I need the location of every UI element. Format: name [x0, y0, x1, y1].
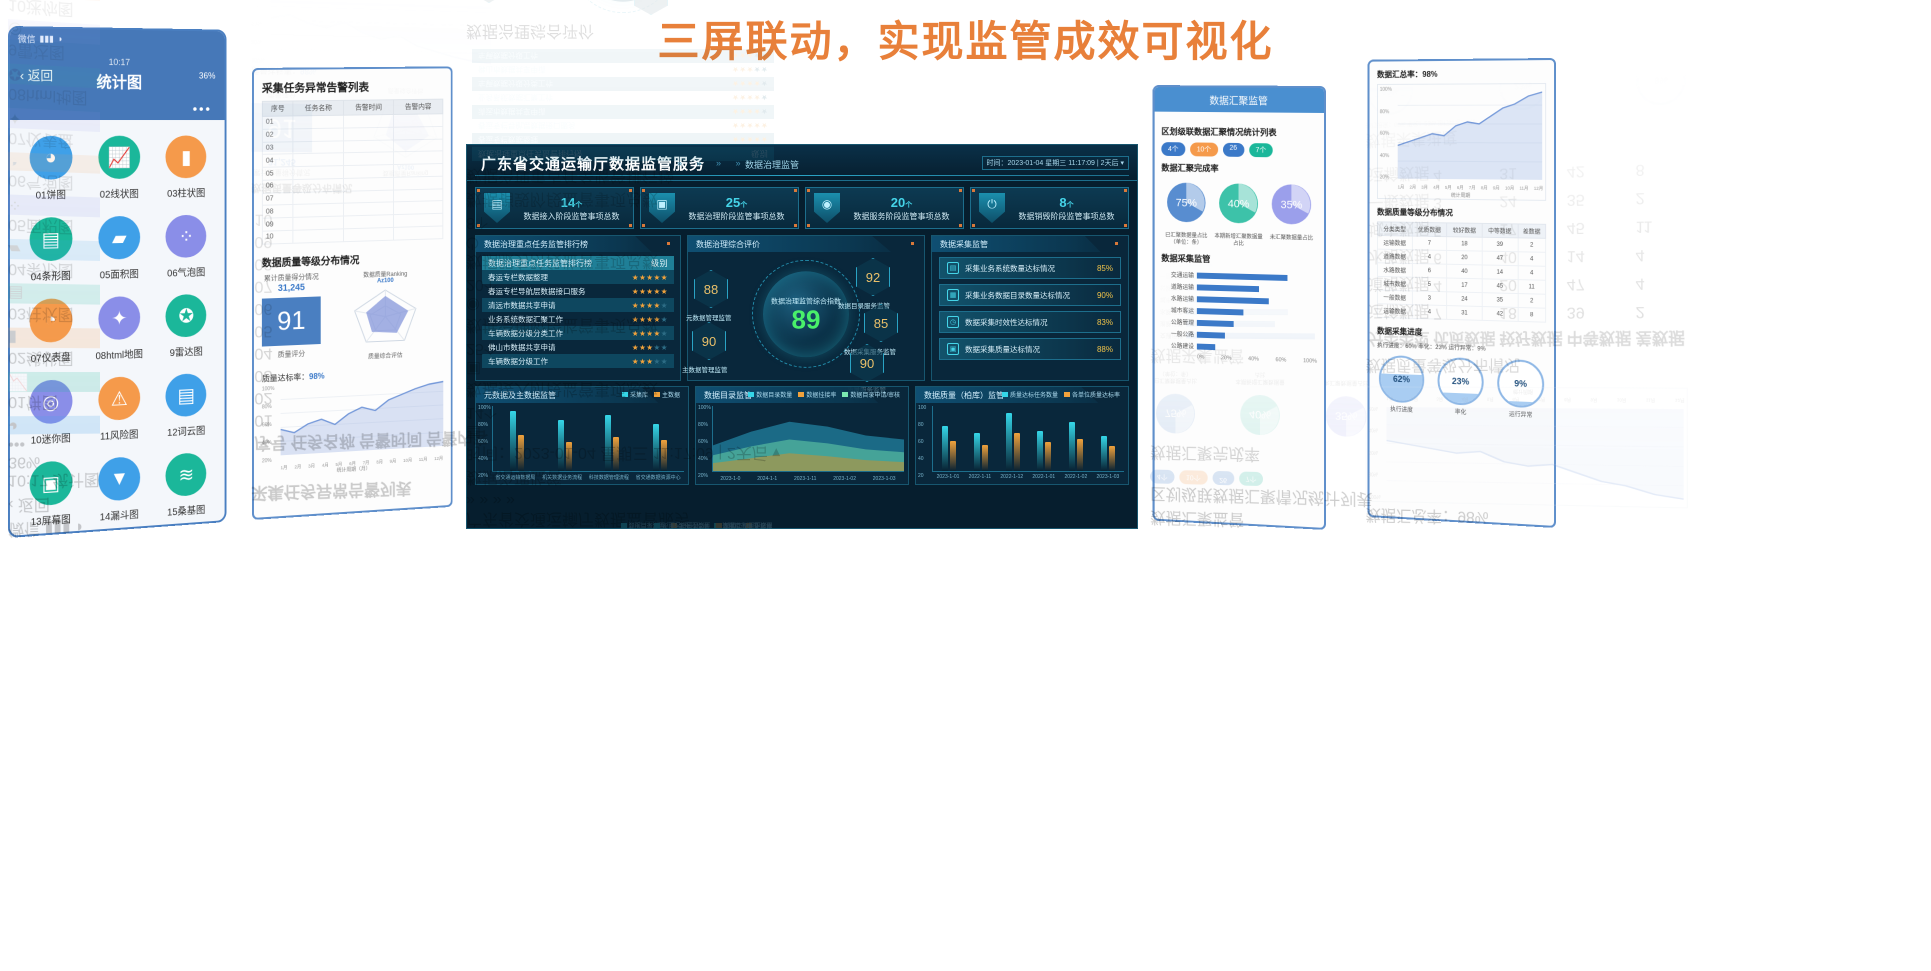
- bar: [1006, 413, 1012, 472]
- eval-node[interactable]: 90: [692, 322, 726, 360]
- table-cell: [293, 115, 344, 128]
- bar: [1045, 442, 1051, 471]
- progress-caption: 执行进度：60% 率化：23% 运行异常：9%: [1377, 340, 1546, 354]
- quality-section-title: 数据质量等级分布情况: [262, 249, 443, 270]
- table-cell: 一般数据: [1377, 290, 1412, 305]
- table-cell: 35: [1482, 293, 1518, 308]
- alert-table: 序号任务名称告警时间告警内容 01020304050607080910: [262, 99, 443, 245]
- aggregation-section3-title: 数据采集监管: [1161, 252, 1317, 268]
- chart-type-item[interactable]: ✦08html地图: [85, 295, 153, 362]
- axis-tick: 6月: [1457, 185, 1464, 191]
- more-button[interactable]: •••: [10, 100, 225, 120]
- quality-radar-chart: 数据质量Ranking Az100 质量综合评估: [327, 267, 444, 362]
- rank-row[interactable]: 车辆数据分级分类工作★★★★★: [482, 326, 674, 340]
- progress-title: 数据采集进度: [1377, 326, 1546, 342]
- axis-tick: 100%: [698, 405, 712, 411]
- bottom-chart-card: 数据质量（柏库）监管质量达标任务数量各单位质量达标率10080604020202…: [915, 386, 1129, 485]
- axis-tick: 5月: [1445, 185, 1452, 191]
- quality-rate-label: 质量达标率：: [262, 372, 309, 383]
- rank-stars: ★★★★★: [622, 315, 668, 324]
- rank-stars: ★★★★★: [622, 343, 668, 352]
- destroy-icon: ⏻: [979, 193, 1005, 223]
- row-index: 02: [262, 129, 293, 142]
- mini-trend-svg: [1398, 86, 1542, 180]
- axis-tick: 60%: [1380, 131, 1397, 137]
- eval-node[interactable]: 88: [694, 270, 728, 308]
- y-axis: 100%80%60%40%20%: [698, 405, 712, 479]
- gauge-icon: ◔: [29, 298, 72, 343]
- rank-stars: ★★★★★: [722, 94, 768, 103]
- stage: 三屏联动，实现监管成效可视化 微信 ▮▮▮ ◗ ‹ 返回 10:17 统计图 3…: [0, 0, 1931, 971]
- aggregation-panel-header: 数据汇聚监管: [1155, 87, 1324, 113]
- kpi-card[interactable]: ⏻8个数据销毁阶段监管事项总数: [970, 187, 1129, 229]
- globe-value: 89: [792, 306, 821, 332]
- rank-row[interactable]: 车辆数据分级工作★★★★★: [482, 354, 674, 368]
- gauge-caption: 执行进度: [1377, 404, 1426, 415]
- quality-icon: ▣: [947, 343, 959, 355]
- table-col-header: 较好数据: [1447, 223, 1482, 237]
- axis-tick: 10月: [1617, 396, 1627, 402]
- axis-tick: 20%: [698, 473, 712, 479]
- chart-legend: 质量达标任务数量各单位质量达标率: [1002, 390, 1120, 399]
- clock-icon: ◷: [947, 316, 959, 328]
- bar-group: [558, 406, 572, 471]
- dashboard-subtitle: 数据治理监管: [745, 158, 799, 171]
- bar-group: [1069, 406, 1083, 471]
- mini-x-label: 统计周期: [1378, 191, 1545, 200]
- axis-tick: 2023-1-03: [873, 476, 896, 482]
- table-cell: 4: [1634, 269, 1685, 296]
- rank-row[interactable]: 业务系统数据汇聚工作★★★★★: [472, 91, 774, 105]
- axis-tick: 20%: [478, 473, 492, 479]
- chart-legend: 数据目录数量数据挂接率数据目录申请/审核: [748, 390, 900, 399]
- eval-node[interactable]: 88: [472, 0, 506, 3]
- water-gauge: 23%率化: [1436, 357, 1486, 417]
- quality-table-title: 数据质量等级分布情况: [1377, 207, 1546, 220]
- chart-legend: 采集库主数据: [622, 390, 680, 399]
- table-cell: [344, 227, 394, 241]
- donut-caption: 未汇聚数据量占比: [1266, 235, 1317, 243]
- chart-body: 100%80%60%40%20%省交通运输数据局机关数据业务流程科技数据管理流程…: [476, 403, 688, 493]
- metric-value: 85%: [1097, 264, 1113, 273]
- system-icon: ▤: [947, 262, 959, 274]
- eval-card: 数据治理综合评价 数据治理监管综合指数 89 88元数据管理监管92数据目录服务…: [687, 235, 925, 381]
- table-cell: [344, 152, 394, 166]
- rank-task-name: 车辆数据分级工作: [488, 356, 622, 367]
- axis-tick: 2023-1-11: [794, 476, 816, 482]
- collect-metric-item[interactable]: ◷数据采集时效性达标情况83%: [939, 311, 1121, 333]
- table-col-header: 告警时间: [344, 100, 394, 115]
- rank-row[interactable]: 业务系统数据汇聚工作★★★★★: [482, 312, 674, 326]
- kpi-caption: 数据接入阶段监管事项总数: [516, 211, 627, 222]
- table-cell: 7: [1412, 236, 1447, 250]
- table-cell: 6: [1412, 263, 1447, 278]
- kpi-card[interactable]: ▤14个数据接入阶段监管事项总数: [475, 187, 634, 229]
- axis-tick: 60%: [262, 421, 280, 428]
- timestamp-badge[interactable]: 时间：2023-01-04 星期三 11:17:09 | 2天后 ▾: [982, 156, 1129, 170]
- chart-body: 100%80%60%40%20%2023-1-02024-1-12023-1-1…: [696, 403, 908, 493]
- bar-chart-plot: [932, 406, 1124, 472]
- radar-svg: [345, 283, 425, 351]
- axis-tick: 40%: [698, 456, 712, 462]
- row-index: 10: [262, 230, 293, 244]
- axis-tick: 11月: [1520, 186, 1529, 192]
- bar: [1014, 433, 1020, 471]
- kpi-value: 25个: [681, 195, 792, 210]
- table-cell: 11: [1518, 280, 1546, 295]
- rank-task-name: 春运专栏导航层数据接口服务: [488, 286, 622, 297]
- table-cell: 8: [1634, 154, 1685, 182]
- axis-tick: 科技数据管理流程: [589, 474, 629, 481]
- table-cell: [293, 178, 344, 192]
- rank-row[interactable]: 清远市数据共享申请★★★★★: [472, 105, 774, 119]
- chart-type-label: 08html地图: [85, 345, 153, 363]
- chart-type-label: 01饼图: [16, 186, 85, 202]
- row-index: 09: [262, 218, 293, 232]
- collect-metric-item[interactable]: ▤采集业务系统数量达标情况85%: [939, 257, 1121, 279]
- metric-value: 90%: [1097, 291, 1113, 300]
- h-bar: [1197, 320, 1234, 327]
- table-cell: 4: [1634, 240, 1685, 267]
- aggregation-pill-row: 4个10个267个: [1161, 142, 1317, 158]
- collect-metric-list: ▤采集业务系统数量达标情况85%▦采集业务数据目录数量达标情况90%◷数据采集时…: [932, 252, 1128, 365]
- water-gauge: 9%运行异常: [1495, 359, 1546, 420]
- bar: [1101, 436, 1107, 471]
- chart-type-label: 11风险图: [85, 425, 153, 444]
- legend-item: 主数据: [654, 390, 680, 399]
- donut-chart: 40%本期新增汇聚数据量占比: [1213, 180, 1264, 248]
- collect-metric-item[interactable]: ▦采集业务数据目录数量达标情况90%: [939, 284, 1121, 306]
- kpi-row: ▤14个数据接入阶段监管事项总数▣25个数据治理阶段监管事项总数◉20个数据服务…: [467, 181, 1137, 233]
- bar: [510, 411, 516, 471]
- bar-group: [653, 406, 667, 471]
- donut-chart: 35%未汇聚数据量占比: [1266, 181, 1317, 249]
- metric-label: 采集业务数据目录数量达标情况: [965, 290, 1091, 301]
- axis-tick: 80%: [1380, 109, 1397, 115]
- table-cell: [293, 229, 344, 243]
- chart-type-item[interactable]: ▮03柱状图: [153, 135, 219, 199]
- h-bar-label: 公路管理: [1161, 317, 1194, 327]
- globe-index: 数据治理监管综合指数 89: [580, 0, 666, 2]
- chart-type-label: 05面积图: [85, 265, 153, 282]
- donut-caption: 已汇聚数据量占比（单位：条）: [1161, 232, 1211, 247]
- bottom-chart-card: 元数据及主数据监管采集库主数据100%80%60%40%20%省交通运输数据局机…: [475, 386, 689, 485]
- table-cell: 47: [1482, 251, 1518, 266]
- sankey-icon: ≋: [166, 452, 207, 497]
- chart-type-item[interactable]: ⚠11风险图: [8, 0, 99, 1]
- gauge-caption: 运行异常: [1495, 408, 1546, 419]
- axis-tick: 100%: [1303, 358, 1317, 364]
- axis-tick: 100: [918, 405, 932, 411]
- svg-text:75%: 75%: [1176, 197, 1198, 209]
- bar: [1037, 431, 1043, 471]
- axis-tick: 20%: [1221, 355, 1232, 361]
- rank-stars: ★★★★★: [722, 80, 768, 89]
- row-index: 04: [262, 154, 293, 167]
- legend-item: 采集库: [622, 390, 648, 399]
- table-cell: 2: [1634, 183, 1685, 211]
- h-bar-label: 一般公路: [1161, 329, 1194, 339]
- phone-navbar: ‹ 返回 10:17 统计图 36%: [10, 48, 225, 101]
- rank-task-name: 佛山市数据共享申请: [488, 342, 622, 353]
- h-bar: [1197, 343, 1216, 350]
- kpi-card[interactable]: ◉20个数据服务阶段监管事项总数: [805, 187, 964, 229]
- table-cell: 3: [1412, 291, 1447, 306]
- table-cell: [394, 114, 443, 127]
- kpi-value: 8个: [1011, 195, 1122, 210]
- x-axis: 2023-1-012022-1-112022-1-122022-1-012022…: [932, 474, 1124, 480]
- dashboard-header: 广东省交通运输厅数据监管服务 » » » » 数据治理监管 时间：2023-01…: [467, 145, 1137, 181]
- bar-group: [942, 406, 956, 471]
- rank-row[interactable]: 春运专栏数据整理★★★★★: [482, 270, 674, 284]
- eval-node-label: 主数据管理监管: [682, 364, 728, 374]
- quality-score-block: 累计质量得分情况 31,245 91 质量评分: [262, 271, 321, 365]
- table-cell: 2: [1518, 238, 1546, 252]
- table-cell: 42: [1566, 156, 1633, 184]
- table-col-header: 中等数据: [1566, 326, 1633, 352]
- bubble-chart-icon: ⁘: [166, 215, 207, 258]
- chart-type-label: 10迷你图: [16, 429, 85, 448]
- axis-tick: 9月: [1590, 396, 1597, 402]
- y-axis: 100%80%60%40%20%: [478, 405, 492, 479]
- rank-stars: ★★★★★: [622, 329, 668, 338]
- rank-task-name: 车辆数据分级分类工作: [478, 79, 722, 90]
- axis-tick: 60%: [698, 439, 712, 445]
- h-bar-label: 城市客运: [1161, 305, 1194, 315]
- rank-stars: ★★★★★: [622, 301, 668, 310]
- row-index: 06: [262, 179, 293, 192]
- chart-type-label: 15桑基图: [153, 500, 219, 519]
- table-cell: 24: [1447, 292, 1482, 307]
- quality-trend-mini: 100%80%60%40%20% 1月2月3月4月5月6月7月8月9月10月11…: [1377, 83, 1546, 201]
- bar-group: [1037, 406, 1051, 471]
- collect-metric-item[interactable]: ▣数据采集质量达标情况88%: [939, 338, 1121, 360]
- chart-type-item[interactable]: ⚠11风险图: [85, 375, 153, 443]
- bar: [613, 437, 619, 471]
- metric-label: 数据采集质量达标情况: [965, 344, 1091, 355]
- h-bar-label: 交通运输: [1161, 270, 1194, 280]
- chart-type-item[interactable]: ▣13屏幕图: [16, 459, 85, 529]
- axis-tick: 省交通运输数据局: [495, 474, 535, 481]
- warning-icon: ⚠: [98, 376, 140, 421]
- h-bar: [1197, 296, 1269, 304]
- quality-table-body: 运输数据718392道路数据420474水路数据640144城市数据517451…: [1377, 235, 1545, 322]
- axis-tick: 4月: [1433, 185, 1440, 191]
- table-cell: 运输数据: [1377, 235, 1412, 249]
- card-corner-dot-icon: [1115, 242, 1118, 245]
- chart-type-item[interactable]: ⁘06气泡图: [153, 214, 219, 279]
- donut-chart: 75%已汇聚数据量占比（单位：条）: [1161, 179, 1211, 247]
- metric-label: 数据采集时效性达标情况: [965, 317, 1091, 328]
- axis-tick: 80%: [478, 422, 492, 428]
- axis-tick: 10月: [1505, 186, 1514, 192]
- table-col-header: 差数据: [1518, 224, 1546, 238]
- table-cell: 8: [1518, 307, 1546, 322]
- axis-tick: 2023-1-01: [937, 474, 960, 480]
- table-cell: [394, 176, 443, 190]
- table-cell: 2: [1518, 294, 1546, 309]
- axis-tick: 12月: [1534, 186, 1543, 192]
- water-gauge: 62%执行进度: [1377, 355, 1426, 415]
- rank-row[interactable]: 佛山市数据共享申请★★★★★: [482, 340, 674, 354]
- database-icon: ▣: [649, 193, 675, 223]
- table-cell: [344, 140, 394, 154]
- chart-type-item[interactable]: ▤12词云图: [153, 372, 219, 439]
- axis-tick: 80: [918, 422, 932, 428]
- aggregation-pill[interactable]: 4个: [1161, 142, 1185, 156]
- alert-table-title: 采集任务异常告警列表: [262, 78, 443, 96]
- rank-task-name: 清远市数据共享申请: [478, 107, 722, 118]
- axis-tick: 40%: [262, 439, 280, 446]
- axis-tick: 100%: [262, 385, 280, 392]
- table-cell: 31: [1447, 306, 1482, 321]
- table-cell: 40: [1447, 264, 1482, 279]
- bar-group: [1006, 406, 1020, 471]
- bar: [1077, 439, 1083, 472]
- chart-type-label: 14漏斗图: [85, 505, 153, 524]
- kpi-card[interactable]: ▣25个数据治理阶段监管事项总数: [640, 187, 799, 229]
- table-cell: 20: [1447, 250, 1482, 265]
- collect-card-title: 数据采集监管: [932, 236, 1128, 252]
- axis-tick: 2023-1-03: [1097, 474, 1120, 480]
- table-cell: [293, 153, 344, 167]
- bar-group: [605, 406, 619, 471]
- wifi-icon: ◗: [58, 34, 63, 44]
- aggregation-pill[interactable]: 10个: [1190, 142, 1218, 156]
- axis-tick: 60%: [478, 439, 492, 445]
- quality-panel-top-title: 数据汇总率：98%: [1377, 68, 1546, 80]
- globe-index: 数据治理监管综合指数 89: [763, 271, 849, 357]
- score-value: 91: [262, 296, 321, 346]
- donut-caption: 本期新增汇聚数据量占比: [1213, 234, 1264, 249]
- chart-type-item[interactable]: ▰05面积图: [85, 216, 153, 282]
- rank-task-name: 车辆数据分级分类工作: [488, 328, 622, 339]
- rank-stars: ★★★★★: [722, 122, 768, 131]
- gauge-value: 23%: [1439, 359, 1481, 404]
- bar-group: [974, 406, 988, 471]
- table-cell: 42: [1482, 307, 1518, 322]
- aggregation-pill[interactable]: 7个: [1249, 143, 1273, 157]
- rank-stars: ★★★★★: [622, 287, 668, 296]
- rank-row[interactable]: 清远市数据共享申请★★★★★: [482, 298, 674, 312]
- h-bar: [1197, 331, 1225, 338]
- bar: [950, 441, 956, 471]
- rank-row[interactable]: 车辆数据分级分类工作★★★★★: [472, 77, 774, 91]
- bar: [982, 445, 988, 471]
- axis-tick: 2月: [1409, 185, 1416, 191]
- donut-svg: 35%: [1323, 393, 1370, 440]
- table-col-header: 中等数据: [1482, 223, 1518, 237]
- arrow-decoration-icon: » » » »: [677, 158, 747, 168]
- row-index: 05: [262, 167, 293, 180]
- rank-card-title: 数据治理重点任务监管排行榜: [476, 236, 680, 252]
- chart-type-item[interactable]: ◎10迷你图: [16, 378, 85, 447]
- chart-type-item[interactable]: ◔07仪表盘: [16, 298, 85, 366]
- chart-type-item[interactable]: ▤04条形图: [16, 217, 85, 284]
- svg-text:35%: 35%: [1281, 199, 1303, 212]
- axis-tick: 60%: [1276, 357, 1287, 363]
- gauge-value: 9%: [1499, 361, 1542, 406]
- rank-task-name: 春运专栏数据整理: [488, 272, 622, 283]
- trend-y-axis: 100%80%60%40%20%: [262, 385, 280, 464]
- axis-tick: 80%: [698, 422, 712, 428]
- dashboard-middle-row: 数据治理重点任务监管排行榜 数据治理重点任务监管排行榜级别春运专栏数据整理★★★…: [467, 233, 1137, 381]
- chart-type-item[interactable]: ◕01饼图: [16, 136, 85, 202]
- bottom-chart-card: 数据目录监管数据目录数量数据挂接率数据目录申请/审核100%80%60%40%2…: [695, 386, 909, 485]
- bar: [1109, 446, 1115, 471]
- chart-type-item[interactable]: 📈02线状图: [85, 136, 153, 201]
- legend-item: 质量达标任务数量: [1002, 390, 1058, 399]
- axis-tick: 8月: [1481, 185, 1488, 191]
- y-axis: 10080604020: [918, 405, 932, 479]
- catalog-icon: ▦: [947, 289, 959, 301]
- header-rail: [475, 175, 1129, 176]
- table-cell: 45: [1566, 213, 1633, 241]
- chart-type-label: 02线状图: [85, 185, 153, 201]
- chart-type-item[interactable]: ✪9雷达图: [153, 293, 219, 359]
- area-chart-svg: [712, 406, 904, 472]
- chart-body: 100806040202023-1-012022-1-112022-1-1220…: [916, 403, 1128, 493]
- axis-tick: 40%: [1248, 356, 1259, 362]
- chart-type-label: 12词云图: [153, 421, 219, 439]
- donut-caption: 未汇聚数据量占比: [1320, 378, 1373, 386]
- table-col-header: 差数据: [1634, 326, 1685, 353]
- sparkline-icon: ◎: [29, 379, 72, 425]
- table-cell: 4: [1518, 266, 1546, 281]
- dashboard-bottom-row: 元数据及主数据监管采集库主数据100%80%60%40%20%省交通运输数据局机…: [467, 381, 1137, 491]
- axis-tick: 2022-1-01: [1032, 474, 1055, 480]
- table-cell: 道路数据: [1377, 249, 1412, 263]
- chart-type-item[interactable]: ≋15桑基图: [153, 451, 219, 519]
- page-title: 三屏联动，实现监管成效可视化: [0, 8, 1931, 69]
- rank-task-name: 业务系统数据汇聚工作: [478, 93, 722, 104]
- table-cell: 运输数据: [1377, 304, 1412, 319]
- bar: [942, 426, 948, 472]
- table-col-header: 任务名称: [293, 100, 344, 116]
- table-cell: 5: [1412, 277, 1447, 292]
- score-total: 31,245: [262, 281, 321, 293]
- aggregation-pill[interactable]: 26: [1223, 143, 1244, 157]
- bar: [1069, 422, 1075, 471]
- rank-row[interactable]: 春运专栏导航层数据接口服务★★★★★: [472, 119, 774, 133]
- quality-panel: 数据汇总率：98% 100%80%60%40%20% 1月2月3月4月5月6月7…: [1368, 58, 1556, 528]
- table-cell: 城市数据: [1377, 276, 1412, 291]
- axis-tick: 2022-1-11: [969, 474, 991, 480]
- bar: [605, 415, 611, 471]
- metric-label: 采集业务系统数量达标情况: [965, 263, 1091, 274]
- rank-row[interactable]: 春运专栏导航层数据接口服务★★★★★: [482, 284, 674, 298]
- document-icon: ▤: [484, 193, 510, 223]
- chart-type-item[interactable]: ▼14漏斗图: [85, 455, 153, 524]
- rank-col-level: 级别: [622, 258, 668, 269]
- funnel-icon: ▼: [98, 456, 140, 502]
- service-icon: ◉: [814, 193, 840, 223]
- table-cell: 18: [1447, 237, 1482, 251]
- page-heading: 统计图: [96, 75, 142, 92]
- bar-chart-plot: [492, 406, 684, 472]
- area-chart-icon: ▰: [98, 216, 140, 260]
- gauge-value: 62%: [1381, 357, 1423, 402]
- legend-item: 各单位质量达标率: [1064, 390, 1120, 399]
- aggregation-section1-title: 区划级联数据汇聚情况统计列表: [1161, 125, 1317, 138]
- eval-node[interactable]: 92: [856, 258, 890, 296]
- rank-card: 数据治理重点任务监管排行榜 数据治理重点任务监管排行榜级别春运专栏数据整理★★★…: [475, 235, 681, 381]
- line-chart-icon: 📈: [98, 136, 140, 179]
- donut-chart: 35%未汇聚数据量占比: [1320, 371, 1373, 440]
- rank-col-name: 数据治理重点任务监管排行榜: [488, 258, 622, 269]
- axis-tick: 60: [918, 439, 932, 445]
- table-cell: 45: [1482, 279, 1518, 294]
